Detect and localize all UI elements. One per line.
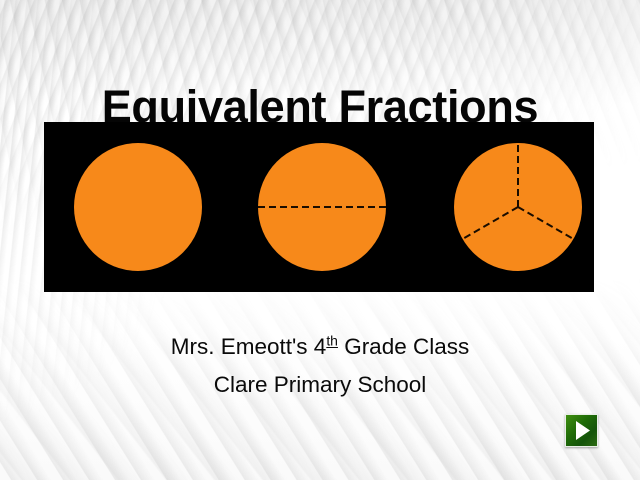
halves-circle [258, 143, 386, 271]
subtitle-grade-suffix: Grade Class [338, 334, 469, 359]
fraction-circles-diagram [44, 122, 594, 292]
subtitle-line-class: Mrs. Emeott's 4th Grade Class [0, 328, 640, 366]
play-triangle-icon [566, 415, 597, 446]
slide-equivalent-fractions: Equivalent Fractions Mrs. Emeott's 4th G… [0, 0, 640, 480]
subtitle-ordinal-suffix: th [326, 333, 338, 349]
whole-circle [74, 143, 202, 271]
slide-subtitle: Mrs. Emeott's 4th Grade Class Clare Prim… [0, 328, 640, 404]
thirds-circle [454, 143, 582, 271]
fraction-figure-panel [44, 122, 594, 292]
subtitle-teacher-prefix: Mrs. Emeott's 4 [171, 334, 327, 359]
next-slide-button[interactable] [565, 414, 598, 447]
subtitle-line-school: Clare Primary School [0, 366, 640, 404]
